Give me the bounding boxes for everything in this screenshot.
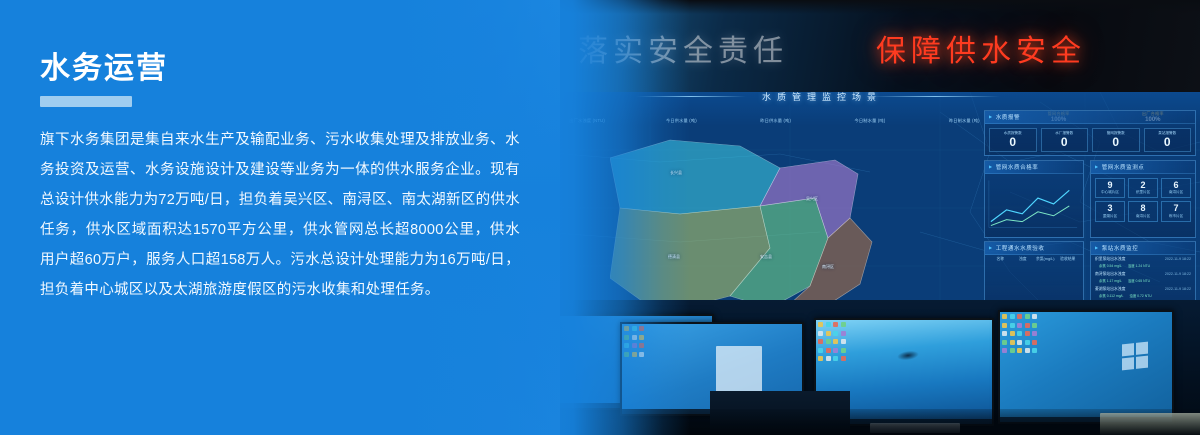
monitor-point-cell: 3 菱湖片区 bbox=[1095, 201, 1125, 221]
station-time: 2022-11-9 18:22 bbox=[1165, 272, 1191, 276]
alarm-value: 0 bbox=[1093, 136, 1139, 148]
station-log-entry: 织里泵站出水浊度 2022-11-9 18:22 余氯 0.54 mg/L 浊度… bbox=[1091, 255, 1195, 270]
acceptance-column-headers: 名称 浊度 余氯(mg/L) 验收结果 bbox=[985, 255, 1083, 264]
station-name: 织里泵站出水浊度 bbox=[1095, 257, 1125, 262]
monitor-point-label: 南浔片区 bbox=[1162, 190, 1190, 195]
intro-panel: 水务运营 旗下水务集团是集自来水生产及输配业务、污水收集处理及排放业务、水务投资… bbox=[0, 0, 560, 435]
panel-pipeline-qualify-rate: 管网水质合格率 bbox=[984, 160, 1084, 238]
monitor-point-cell: 8 南浔片区 bbox=[1128, 201, 1158, 221]
workstation-monitor-4 bbox=[998, 310, 1174, 424]
led-banner-right-text: 保障供水安全 bbox=[876, 26, 1086, 70]
alarm-value: 0 bbox=[1145, 136, 1191, 148]
station-metric-1: 余氯 0.112 mg/L bbox=[1099, 293, 1123, 298]
qualify-rate-chart bbox=[985, 174, 1083, 232]
monitor-point-value: 7 bbox=[1162, 204, 1190, 213]
page-title: 水务运营 bbox=[40, 52, 540, 85]
alarm-cell: 管网报警数 0 bbox=[1092, 128, 1140, 152]
station-metric-1: 余氯 1.17 mg/L bbox=[1099, 278, 1122, 283]
photo-blend-overlay bbox=[540, 0, 690, 435]
title-underline-bar bbox=[40, 96, 132, 107]
station-metric-2: 浊度 1.24 NTU bbox=[1128, 263, 1150, 268]
monitor-point-value: 8 bbox=[1129, 204, 1157, 213]
intro-paragraph: 旗下水务集团是集自来水生产及输配业务、污水收集处理及排放业务、水务投资及运营、水… bbox=[40, 125, 520, 305]
wallpaper-swimmer bbox=[896, 350, 919, 362]
station-time: 2022-11-9 18:22 bbox=[1165, 257, 1191, 261]
station-metric-2: 浊度 0.65 NTU bbox=[1128, 278, 1150, 283]
alarm-cell: 泵站报警数 0 bbox=[1144, 128, 1192, 152]
monitor-point-cell: 6 南浔片区 bbox=[1161, 178, 1191, 198]
column-header: 名称 bbox=[989, 257, 1012, 262]
alarm-value: 0 bbox=[1042, 136, 1088, 148]
station-name: 菱湖泵站出水浊度 bbox=[1095, 287, 1125, 292]
monitor-point-label: 练市片区 bbox=[1162, 214, 1190, 219]
monitor-point-cell: 7 练市片区 bbox=[1161, 201, 1191, 221]
panel-water-quality-alarm: 水质报警 水质报警数 0 水厂报警数 0 管网报警数 0 bbox=[984, 110, 1196, 156]
panel-header: 工程通水水质验收 bbox=[985, 242, 1083, 255]
alarm-cell: 水厂报警数 0 bbox=[1041, 128, 1089, 152]
windows-logo-icon bbox=[1122, 341, 1148, 370]
map-label: 吴兴区 bbox=[806, 196, 818, 202]
dashboard-right-panels: 水质报警 水质报警数 0 水厂报警数 0 管网报警数 0 bbox=[984, 110, 1196, 318]
desktop-icons bbox=[1002, 314, 1038, 355]
monitor-point-label: 南浔片区 bbox=[1129, 214, 1157, 219]
panel-header: 管网水质合格率 bbox=[985, 161, 1083, 174]
alarm-cell: 水质报警数 0 bbox=[989, 128, 1037, 152]
desktop-icons bbox=[818, 322, 847, 363]
map-label: 南浔区 bbox=[822, 264, 834, 270]
monitor-point-label: 中心城片区 bbox=[1096, 190, 1124, 195]
monitor-point-label: 菱湖片区 bbox=[1096, 214, 1124, 219]
dashboard-title: 水质管理监控场景 bbox=[762, 92, 882, 103]
map-label: 安吉县 bbox=[760, 254, 772, 260]
station-name: 南浔泵站出水浊度 bbox=[1095, 272, 1125, 277]
water-operations-banner: 落实安全责任 保障供水安全 bbox=[0, 0, 1200, 435]
alarm-cell-grid: 水质报警数 0 水厂报警数 0 管网报警数 0 泵站报警数 bbox=[985, 124, 1195, 156]
station-log-entry: 菱湖泵站出水浊度 2022-11-9 18:22 余氯 0.112 mg/L 浊… bbox=[1091, 285, 1195, 300]
alarm-value: 0 bbox=[990, 136, 1036, 148]
monitor-point-grid: 9 中心城片区 2 织里片区 6 南浔片区 3 bbox=[1091, 174, 1195, 226]
monitor-point-cell: 9 中心城片区 bbox=[1095, 178, 1125, 198]
panel-header: 管网水质监测点 bbox=[1091, 161, 1195, 174]
column-header: 浊度 bbox=[1012, 257, 1035, 262]
column-header: 余氯(mg/L) bbox=[1034, 257, 1057, 262]
station-metric-1: 余氯 0.54 mg/L bbox=[1099, 263, 1122, 268]
panel-pipeline-monitor-points: 管网水质监测点 9 中心城片区 2 织里片区 6 南浔片区 bbox=[1090, 160, 1196, 238]
title-rule-right bbox=[870, 96, 1000, 97]
monitor-point-value: 3 bbox=[1096, 204, 1124, 213]
panel-header: 泵站水质监控 bbox=[1091, 242, 1195, 255]
control-room-photo: 落实安全责任 保障供水安全 bbox=[540, 0, 1200, 435]
panel-header: 水质报警 bbox=[985, 111, 1195, 124]
station-time: 2022-11-9 18:22 bbox=[1165, 287, 1191, 291]
monitor-point-label: 织里片区 bbox=[1129, 190, 1157, 195]
monitor-point-cell: 2 织里片区 bbox=[1128, 178, 1158, 198]
station-log-entry: 南浔泵站出水浊度 2022-11-9 18:22 余氯 1.17 mg/L 浊度… bbox=[1091, 270, 1195, 285]
column-header: 验收结果 bbox=[1057, 257, 1080, 262]
open-document-window bbox=[716, 346, 762, 396]
station-metric-2: 浊度 0.72 NTU bbox=[1129, 293, 1151, 298]
